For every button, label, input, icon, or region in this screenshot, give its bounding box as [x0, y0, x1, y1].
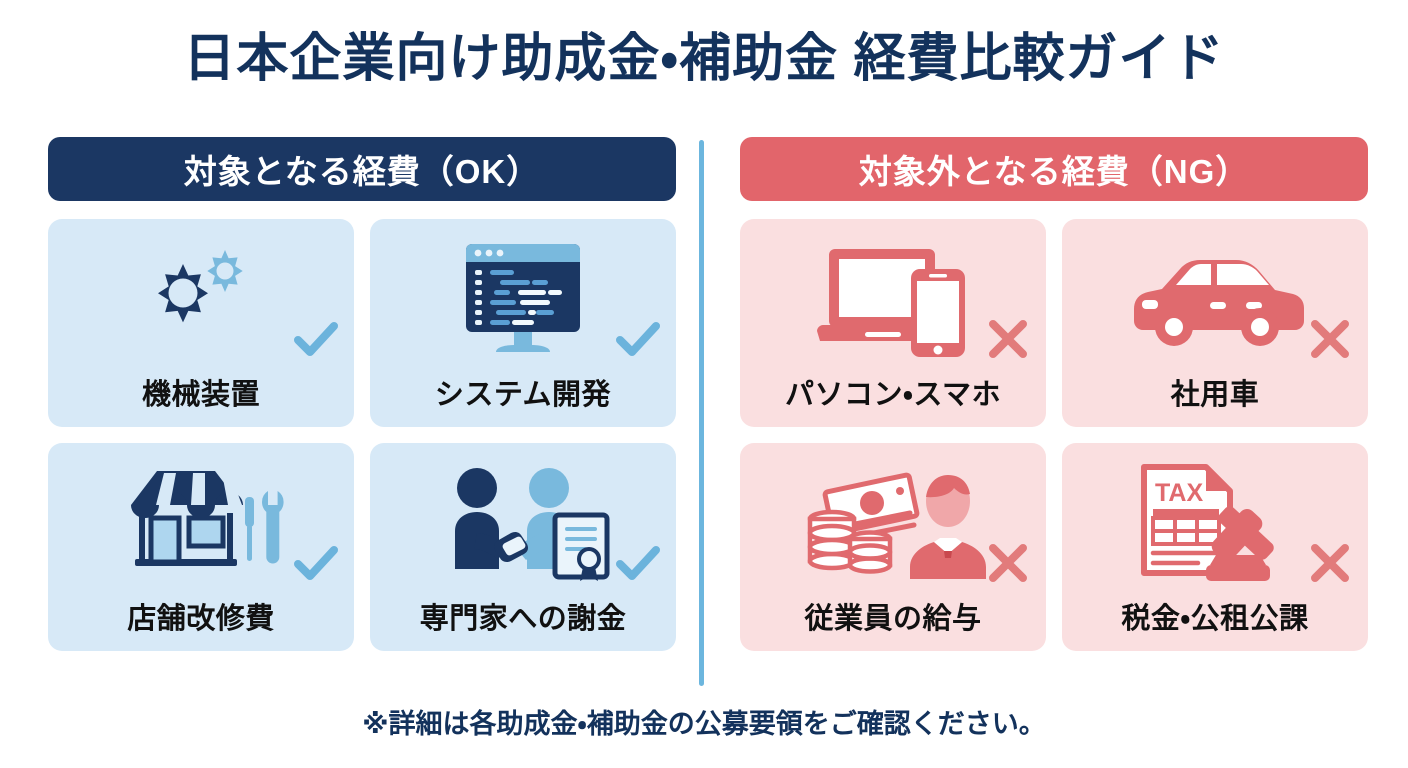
card-employee-salary[interactable]: 従業員の給与 — [740, 443, 1046, 651]
check-icon — [290, 313, 342, 365]
cross-icon — [1304, 537, 1356, 589]
card-label: 従業員の給与 — [740, 595, 1046, 637]
cross-icon — [1304, 313, 1356, 365]
card-tax-public-dues[interactable]: TAX — [1062, 443, 1368, 651]
card-machinery[interactable]: 機械装置 — [48, 219, 354, 427]
page-title: 日本企業向け助成金・補助金 経費比較ガイド — [0, 30, 1408, 90]
card-pc-smartphone[interactable]: パソコン・スマホ — [740, 219, 1046, 427]
card-label: 専門家への謝金 — [370, 595, 676, 637]
card-label: 税金・公租公課 — [1062, 595, 1368, 637]
column-header-eligible: 対象となる経費（OK） — [48, 137, 676, 201]
footnote: ※詳細は各助成金・補助金の公募要領をご確認ください。 — [0, 702, 1408, 741]
infographic-root: 日本企業向け助成金・補助金 経費比較ガイド 対象となる経費（OK） — [0, 0, 1408, 768]
check-icon — [612, 313, 664, 365]
card-expert-fee[interactable]: 専門家への謝金 — [370, 443, 676, 651]
card-grid-not-eligible: パソコン・スマホ — [740, 219, 1368, 651]
card-label: 店舗改修費 — [48, 595, 354, 637]
card-label: 社用車 — [1062, 371, 1368, 413]
column-eligible: 対象となる経費（OK） — [48, 137, 676, 651]
card-system-development[interactable]: システム開発 — [370, 219, 676, 427]
card-grid-eligible: 機械装置 — [48, 219, 676, 651]
column-divider — [699, 140, 704, 686]
check-icon — [290, 537, 342, 589]
card-label: パソコン・スマホ — [740, 371, 1046, 413]
card-label: 機械装置 — [48, 371, 354, 413]
column-header-not-eligible: 対象外となる経費（NG） — [740, 137, 1368, 201]
card-store-renovation[interactable]: 店舗改修費 — [48, 443, 354, 651]
cross-icon — [982, 537, 1034, 589]
tax-label: TAX — [1155, 479, 1203, 507]
cross-icon — [982, 313, 1034, 365]
check-icon — [612, 537, 664, 589]
card-company-car[interactable]: 社用車 — [1062, 219, 1368, 427]
column-not-eligible: 対象外となる経費（NG） — [740, 137, 1368, 651]
card-label: システム開発 — [370, 371, 676, 413]
